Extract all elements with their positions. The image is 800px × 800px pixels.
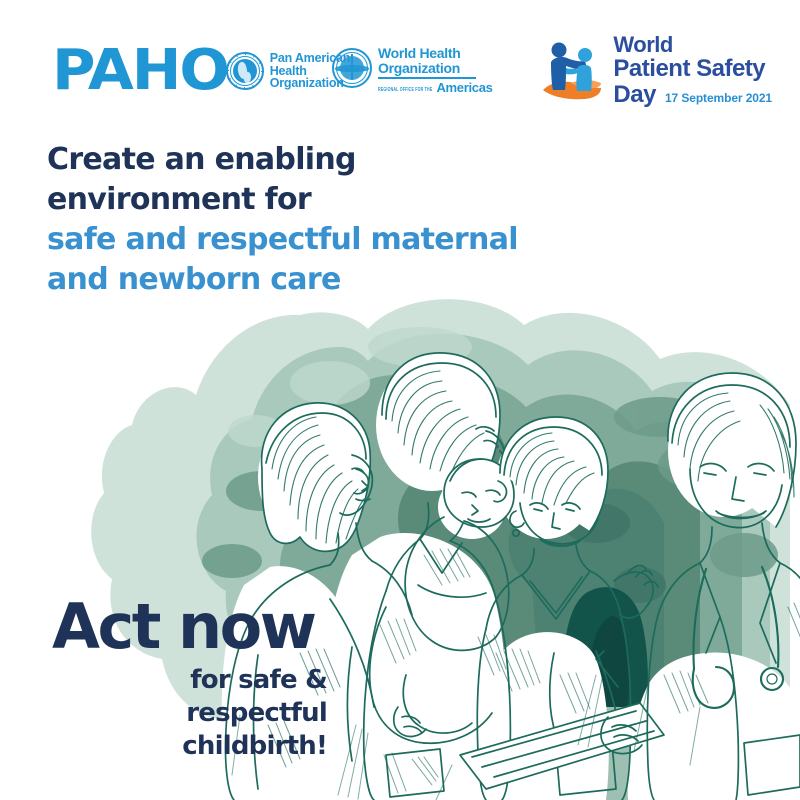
wpsd-line-patient-safety: Patient Safety: [613, 56, 772, 82]
paho-globe-seal-icon: [226, 52, 264, 90]
paho-wordmark: PAHO: [52, 44, 228, 98]
headline-line-2: environment for: [47, 180, 567, 220]
headline: Create an enabling environment for safe …: [47, 140, 567, 300]
wpsd-line-world: World: [613, 34, 772, 56]
who-emblem-icon: [332, 48, 372, 88]
who-name-line-1: World Health: [378, 46, 493, 61]
call-to-action: Act now for safe & respectful childbirth…: [52, 596, 327, 763]
who-logo: World Health Organization REGIONAL OFFIC…: [332, 46, 493, 94]
headline-line-4: and newborn care: [47, 260, 567, 300]
who-divider-rule: [378, 77, 476, 79]
poster-canvas: PAHO Pan American Health Organization: [0, 0, 800, 800]
who-organization-name: World Health Organization: [378, 46, 493, 75]
cta-headline: Act now: [52, 596, 327, 658]
paho-logo: PAHO Pan American Health Organization: [52, 44, 350, 98]
headline-line-3: safe and respectful maternal: [47, 220, 567, 260]
poster-header: PAHO Pan American Health Organization: [0, 0, 800, 125]
headline-line-1: Create an enabling: [47, 140, 567, 180]
wpsd-line-day: Day: [613, 82, 656, 108]
cta-subline-1: for safe & respectful: [52, 664, 327, 730]
two-figures-on-caring-hand-icon: [541, 38, 605, 104]
wpsd-date: 17 September 2021: [665, 91, 772, 105]
cta-subline-2: childbirth!: [52, 730, 327, 763]
world-patient-safety-day-logo: World Patient Safety Day 17 September 20…: [541, 34, 772, 108]
who-name-line-2: Organization: [378, 61, 493, 76]
who-region-name: Americas: [436, 81, 492, 94]
who-region-label: REGIONAL OFFICE FOR THE: [378, 85, 432, 94]
